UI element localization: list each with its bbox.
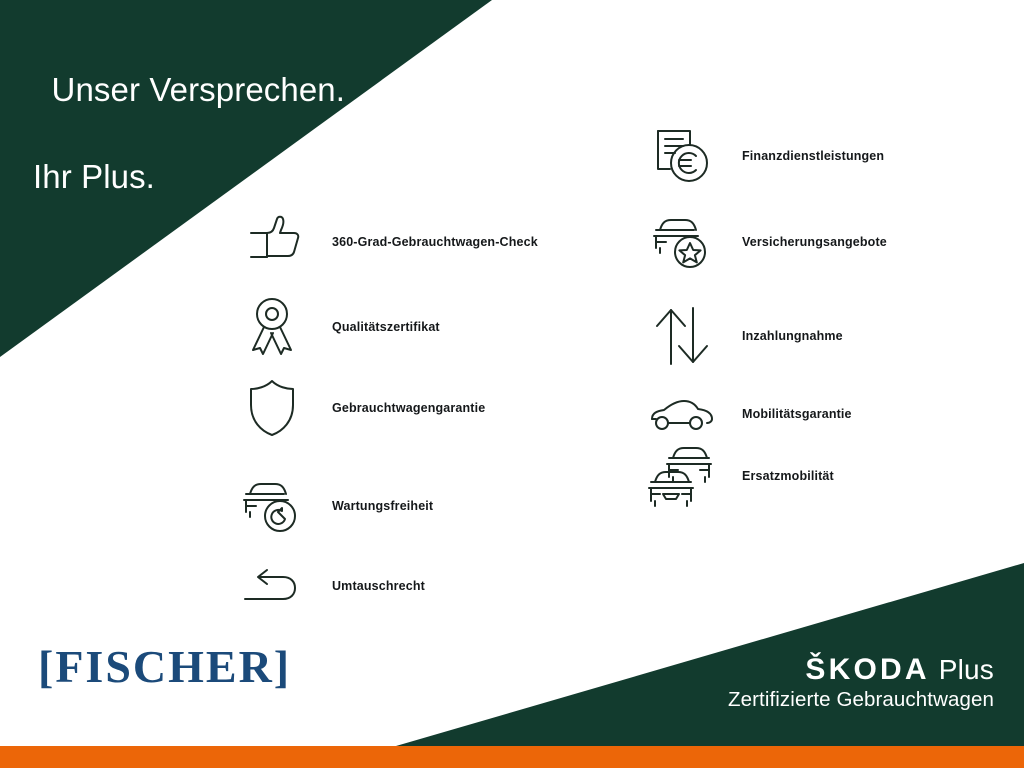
feature-item-quality-certificate: Qualitätszertifikat <box>236 291 440 363</box>
document-euro-icon <box>646 120 718 192</box>
feature-label: 360-Grad-Gebrauchtwagen-Check <box>332 235 538 249</box>
feature-item-warranty: Gebrauchtwagengarantie <box>236 372 485 444</box>
skoda-plus-label: Plus <box>939 656 994 684</box>
thumbs-up-icon <box>236 206 308 278</box>
feature-label: Wartungsfreiheit <box>332 499 433 513</box>
skoda-plus-logo: ŠKODA Plus Zertifizierte Gebrauchtwagen <box>728 655 994 712</box>
feature-label: Inzahlungnahme <box>742 329 843 343</box>
two-cars-icon <box>646 440 718 512</box>
up-down-arrows-icon <box>646 300 718 372</box>
feature-item-360-check: 360-Grad-Gebrauchtwagen-Check <box>236 206 538 278</box>
feature-label: Qualitätszertifikat <box>332 320 440 334</box>
dealer-logo: [FISCHER] <box>38 640 291 693</box>
return-arrow-icon <box>236 550 308 622</box>
feature-item-financial-services: Finanzdienstleistungen <box>646 120 884 192</box>
feature-label: Mobilitätsgarantie <box>742 407 852 421</box>
feature-item-maintenance: Wartungsfreiheit <box>236 470 433 542</box>
feature-label: Finanzdienstleistungen <box>742 149 884 163</box>
shield-icon <box>236 372 308 444</box>
feature-label: Gebrauchtwagengarantie <box>332 401 485 415</box>
feature-label: Versicherungsangebote <box>742 235 887 249</box>
feature-item-replacement-mobility: Ersatzmobilität <box>646 440 834 512</box>
award-rosette-icon <box>236 291 308 363</box>
skoda-logo-row: ŠKODA Plus <box>728 655 994 685</box>
skoda-subtitle: Zertifizierte Gebrauchtwagen <box>728 689 994 712</box>
feature-item-insurance: Versicherungsangebote <box>646 206 887 278</box>
feature-label: Umtauschrecht <box>332 579 425 593</box>
feature-item-return-right: Umtauschrecht <box>236 550 425 622</box>
car-star-icon <box>646 206 718 278</box>
feature-item-trade-in: Inzahlungnahme <box>646 300 843 372</box>
feature-label: Ersatzmobilität <box>742 469 834 483</box>
car-wrench-icon <box>236 470 308 542</box>
skoda-wordmark: ŠKODA <box>805 655 929 685</box>
